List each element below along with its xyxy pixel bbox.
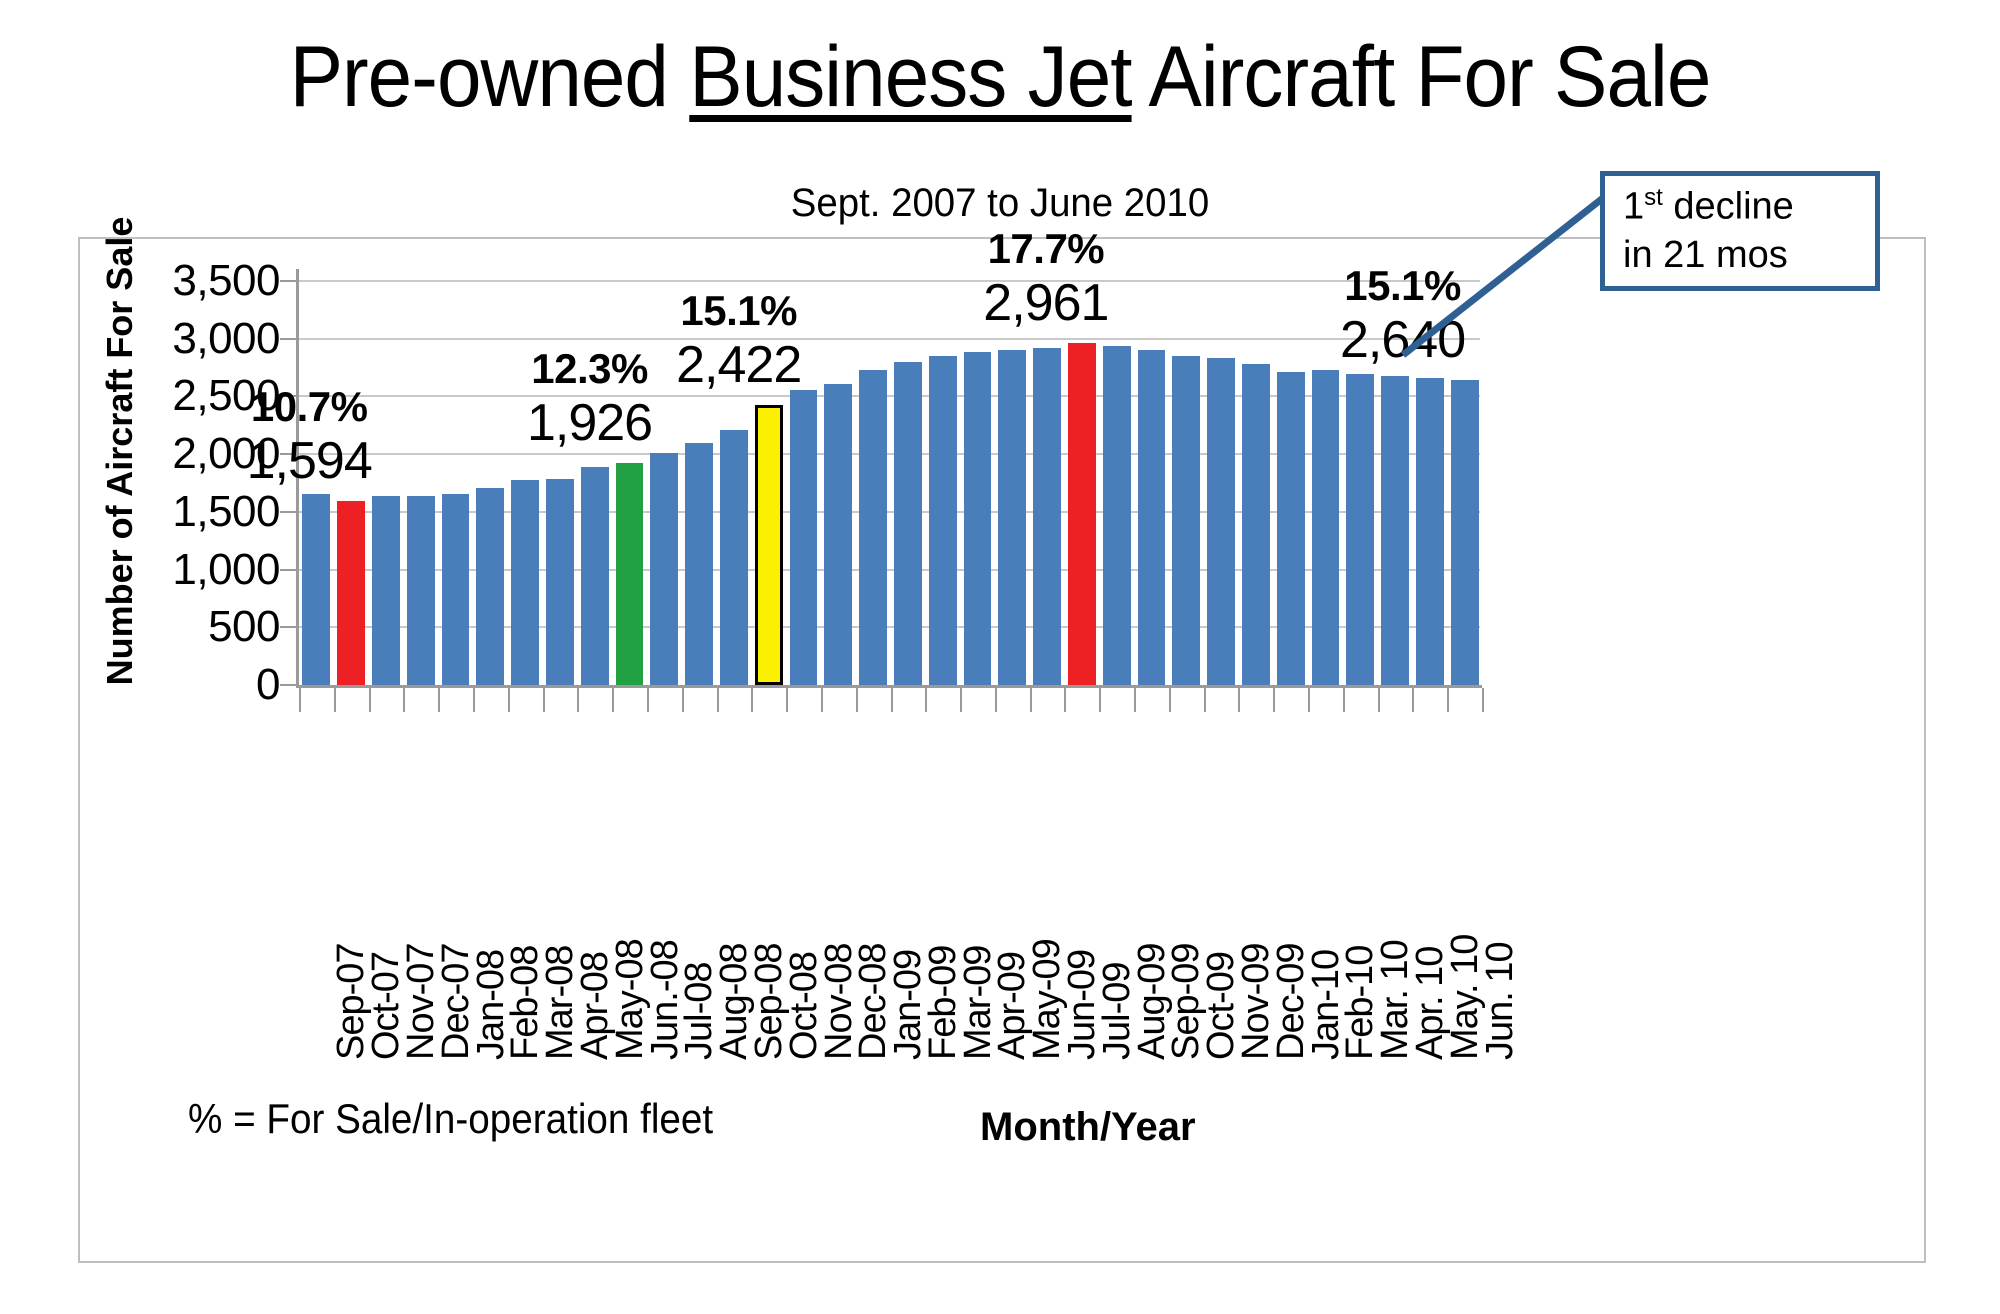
bar-annotation: 10.7%1,594 [229,383,389,491]
callout-line-2: in 21 mos [1623,234,1788,277]
x-tick [1343,688,1345,712]
annotation-value: 2,422 [659,335,819,395]
x-tick [1482,688,1484,712]
annotation-percent: 10.7% [229,383,389,431]
x-tick [473,688,475,712]
bar[interactable] [1277,372,1305,685]
title-underlined: Business Jet [689,29,1131,125]
x-tick [1099,688,1101,712]
annotation-value: 2,961 [966,273,1126,333]
x-tick [438,688,440,712]
x-tick [1308,688,1310,712]
x-tick [299,688,301,712]
title-pre: Pre-owned [290,29,690,125]
bar[interactable] [1451,380,1479,685]
y-tick [280,626,296,628]
bar-annotation: 12.3%1,926 [510,345,670,453]
x-tick [1238,688,1240,712]
x-tick [543,688,545,712]
x-tick [1169,688,1171,712]
y-tick-label: 0 [120,660,280,710]
y-tick-label: 1,000 [120,545,280,595]
bar[interactable] [1312,370,1340,685]
x-tick [334,688,336,712]
y-tick-label: 500 [120,602,280,652]
bar[interactable] [720,430,748,685]
x-tick [717,688,719,712]
bar[interactable] [1033,348,1061,685]
x-tick [612,688,614,712]
y-tick [280,280,296,282]
callout-box: 1st decline in 21 mos [1600,171,1880,291]
y-tick [280,338,296,340]
x-axis-title: Month/Year [980,1105,1196,1150]
bar[interactable] [581,467,609,685]
bar[interactable] [511,480,539,685]
annotation-percent: 12.3% [510,345,670,393]
bar[interactable] [790,390,818,685]
y-tick-label: 3,000 [120,314,280,364]
bar[interactable] [442,494,470,685]
bar-annotation: 15.1%2,422 [659,287,819,395]
y-tick [280,684,296,686]
x-tick [647,688,649,712]
bar[interactable] [476,488,504,685]
x-tick [1134,688,1136,712]
annotation-value: 2,640 [1323,310,1483,370]
x-tick [1273,688,1275,712]
x-tick [369,688,371,712]
bar[interactable] [616,463,644,685]
bar[interactable] [894,362,922,685]
x-tick [1030,688,1032,712]
x-tick [1204,688,1206,712]
x-tick [403,688,405,712]
title-post: Aircraft For Sale [1132,29,1711,125]
x-tick [925,688,927,712]
annotation-percent: 15.1% [1323,262,1483,310]
bar[interactable] [1381,376,1409,685]
annotation-value: 1,926 [510,393,670,453]
bar-series [296,281,1480,685]
bar[interactable] [546,479,574,685]
x-tick [995,688,997,712]
y-tick-label: 1,500 [120,487,280,537]
y-tick [280,511,296,513]
x-tick [1412,688,1414,712]
bar[interactable] [302,494,330,685]
bar[interactable] [1207,358,1235,685]
footnote: % = For Sale/In-operation fleet [188,1095,713,1143]
x-tick [960,688,962,712]
x-tick-label: Jun. 10 [1479,942,1522,1060]
bar[interactable] [407,496,435,685]
bar-annotation: 15.1%2,640 [1323,262,1483,370]
x-tick [786,688,788,712]
bar[interactable] [1346,374,1374,685]
bar[interactable] [859,370,887,685]
x-tick [682,688,684,712]
x-tick [751,688,753,712]
x-tick [1378,688,1380,712]
bar[interactable] [1242,364,1270,685]
bar[interactable] [685,443,713,685]
annotation-percent: 17.7% [966,225,1126,273]
bar[interactable] [1416,378,1444,685]
bar[interactable] [1103,346,1131,685]
bar[interactable] [824,384,852,685]
annotation-percent: 15.1% [659,287,819,335]
callout-line-1: 1st decline [1623,184,1794,229]
bar-annotation: 17.7%2,961 [966,225,1126,333]
bar[interactable] [964,352,992,685]
x-tick [1447,688,1449,712]
bar[interactable] [929,356,957,685]
x-tick [891,688,893,712]
bar[interactable] [1172,356,1200,685]
bar[interactable] [1068,343,1096,685]
bar[interactable] [1138,350,1166,685]
bar[interactable] [650,453,678,685]
chart-title: Pre-owned Business Jet Aircraft For Sale [70,28,1930,127]
annotation-value: 1,594 [229,431,389,491]
x-tick [1064,688,1066,712]
x-tick [508,688,510,712]
bar[interactable] [998,350,1026,685]
bar[interactable] [755,405,783,685]
y-tick-label: 3,500 [120,256,280,306]
x-tick [577,688,579,712]
x-tick [821,688,823,712]
x-tick [856,688,858,712]
bar[interactable] [372,496,400,685]
y-tick [280,569,296,571]
bar[interactable] [337,501,365,685]
